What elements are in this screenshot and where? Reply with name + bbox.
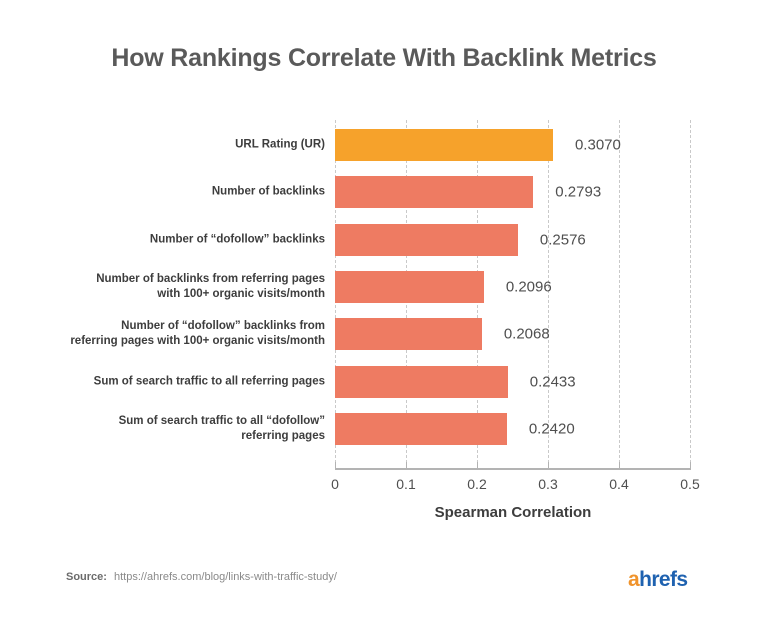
bar-value-label: 0.2096 [506, 278, 552, 295]
x-axis-tick-mark [335, 462, 336, 469]
bar-row: URL Rating (UR)0.3070 [0, 128, 768, 162]
bar-value-label: 0.3070 [575, 137, 621, 154]
bar-chart-figure: How Rankings Correlate With Backlink Met… [0, 0, 768, 641]
bar-category-label: Number of “dofollow” backlinks [45, 232, 325, 247]
bar-category-label: Number of backlinks from referring pages… [45, 272, 325, 302]
bar-value-label: 0.2793 [555, 184, 601, 201]
bar-category-label: Number of “dofollow” backlinks fromrefer… [45, 319, 325, 349]
x-axis-line [335, 468, 691, 470]
source-url: https://ahrefs.com/blog/links-with-traff… [114, 571, 337, 583]
bar-row: Number of backlinks from referring pages… [0, 270, 768, 304]
bar-row: Number of “dofollow” backlinks fromrefer… [0, 317, 768, 351]
bar[interactable] [335, 366, 508, 398]
source-note: Source:https://ahrefs.com/blog/links-wit… [66, 571, 337, 583]
source-label: Source: [66, 571, 107, 583]
chart-title: How Rankings Correlate With Backlink Met… [0, 44, 768, 73]
bar-highlighted[interactable] [335, 129, 553, 161]
bar-category-label: Sum of search traffic to all referring p… [45, 374, 325, 389]
x-axis-tick-label: 0 [305, 476, 365, 492]
ahrefs-logo: ahrefs [628, 568, 687, 592]
bar-category-label: Sum of search traffic to all “dofollow”r… [45, 414, 325, 444]
bar[interactable] [335, 271, 484, 303]
ahrefs-logo-text: hrefs [639, 568, 687, 591]
bar-row: Sum of search traffic to all “dofollow”r… [0, 412, 768, 446]
bar-value-label: 0.2420 [529, 420, 575, 437]
x-axis-tick-label: 0.2 [447, 476, 507, 492]
bar-row: Number of backlinks0.2793 [0, 175, 768, 209]
bar-row: Sum of search traffic to all referring p… [0, 365, 768, 399]
bar-row: Number of “dofollow” backlinks0.2576 [0, 223, 768, 257]
bar-category-label: Number of backlinks [45, 185, 325, 200]
bar-value-label: 0.2068 [504, 326, 550, 343]
x-axis-tick-label: 0.4 [589, 476, 649, 492]
x-axis-tick-mark [690, 462, 691, 469]
bar-category-label: URL Rating (UR) [45, 138, 325, 153]
x-axis-tick-label: 0.3 [518, 476, 578, 492]
x-axis-tick-mark [619, 462, 620, 469]
bar[interactable] [335, 318, 482, 350]
x-axis-tick-label: 0.1 [376, 476, 436, 492]
ahrefs-logo-accent-letter: a [628, 568, 639, 591]
x-axis-title: Spearman Correlation [335, 504, 691, 521]
x-axis-tick-mark [477, 462, 478, 469]
bar-value-label: 0.2576 [540, 231, 586, 248]
x-axis-tick-label: 0.5 [660, 476, 720, 492]
bar[interactable] [335, 176, 533, 208]
x-axis-tick-mark [548, 462, 549, 469]
bar[interactable] [335, 224, 518, 256]
bar[interactable] [335, 413, 507, 445]
x-axis-tick-mark [406, 462, 407, 469]
bar-value-label: 0.2433 [530, 373, 576, 390]
